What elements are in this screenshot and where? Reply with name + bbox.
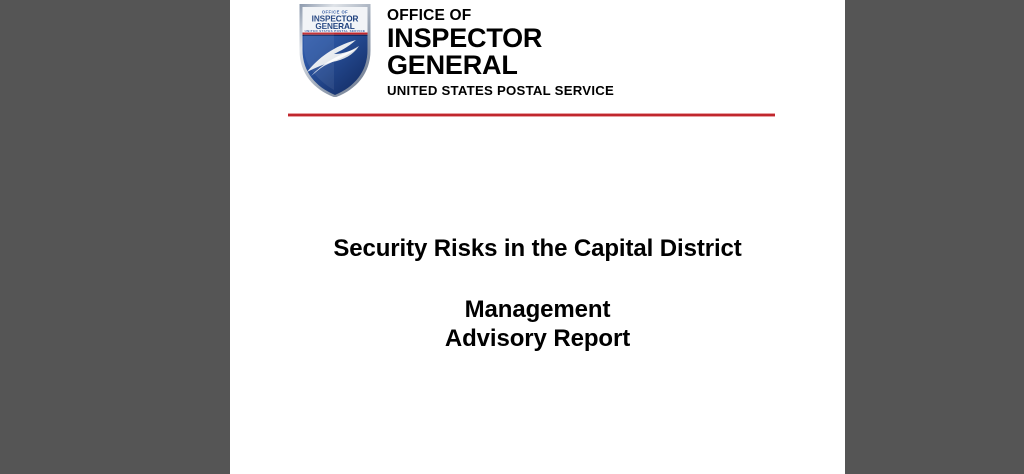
report-title-block: Security Risks in the Capital District: [230, 236, 845, 262]
document-page: OFFICE OF INSPECTOR GENERAL UNITED STATE…: [230, 0, 845, 474]
wordmark-line-usps: UNITED STATES POSTAL SERVICE: [387, 84, 807, 97]
wordmark-line-office-of: OFFICE OF: [387, 8, 807, 24]
header-red-rule: [288, 113, 775, 117]
document-viewer[interactable]: OFFICE OF INSPECTOR GENERAL UNITED STATE…: [0, 0, 1024, 474]
report-subtitle-block: Management Advisory Report: [230, 296, 845, 354]
report-subtitle-line-1: Management: [230, 296, 845, 325]
wordmark-line-inspector: INSPECTOR: [387, 25, 807, 53]
usps-oig-shield-logo: OFFICE OF INSPECTOR GENERAL UNITED STATE…: [298, 2, 372, 97]
oig-wordmark: OFFICE OF INSPECTOR GENERAL UNITED STATE…: [387, 8, 807, 97]
page-title: Security Risks in the Capital District: [230, 236, 845, 262]
wordmark-line-general: GENERAL: [387, 52, 807, 80]
report-header: OFFICE OF INSPECTOR GENERAL UNITED STATE…: [230, 0, 845, 106]
report-subtitle-line-2: Advisory Report: [230, 325, 845, 354]
